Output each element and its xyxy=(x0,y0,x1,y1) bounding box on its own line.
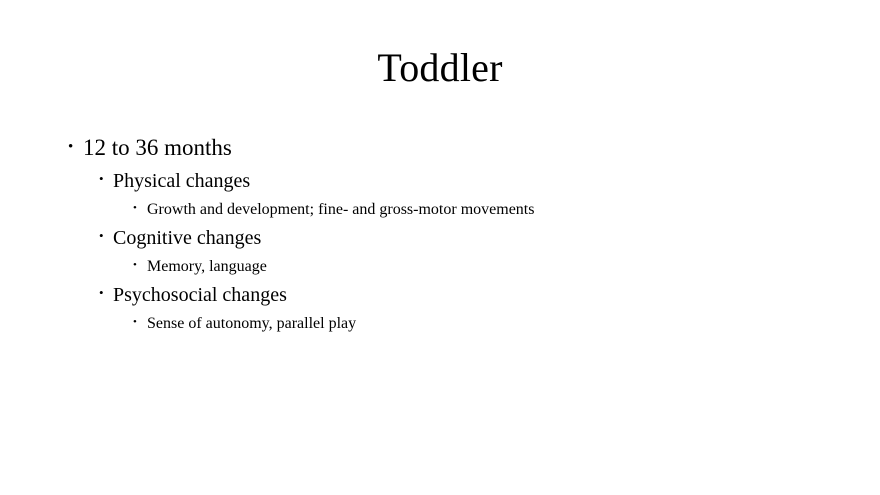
list-item-label: Growth and development; fine- and gross-… xyxy=(147,197,534,223)
bullet-icon: • xyxy=(99,279,113,306)
slide-body-outline: • 12 to 36 months • Physical changes • G… xyxy=(0,133,880,339)
list-item: • Memory, language xyxy=(0,254,880,281)
page-title: Toddler xyxy=(0,46,880,90)
list-item: • Growth and development; fine- and gros… xyxy=(0,197,880,224)
list-item-label: Memory, language xyxy=(147,254,267,280)
list-item: • 12 to 36 months xyxy=(0,133,880,166)
list-item-label: 12 to 36 months xyxy=(83,133,232,162)
list-item-label: Psychosocial changes xyxy=(113,282,287,309)
list-item-label: Physical changes xyxy=(113,168,250,195)
list-item: • Cognitive changes xyxy=(0,225,880,253)
presentation-slide: Toddler • 12 to 36 months • Physical cha… xyxy=(0,0,880,495)
bullet-icon: • xyxy=(68,133,83,162)
bullet-icon: • xyxy=(133,252,147,278)
list-item: • Psychosocial changes xyxy=(0,282,880,310)
list-item: • Physical changes xyxy=(0,168,880,196)
bullet-icon: • xyxy=(99,165,113,192)
bullet-icon: • xyxy=(99,222,113,249)
list-item-label: Sense of autonomy, parallel play xyxy=(147,311,356,337)
bullet-icon: • xyxy=(133,195,147,221)
bullet-icon: • xyxy=(133,309,147,335)
list-item-label: Cognitive changes xyxy=(113,225,261,252)
list-item: • Sense of autonomy, parallel play xyxy=(0,311,880,338)
